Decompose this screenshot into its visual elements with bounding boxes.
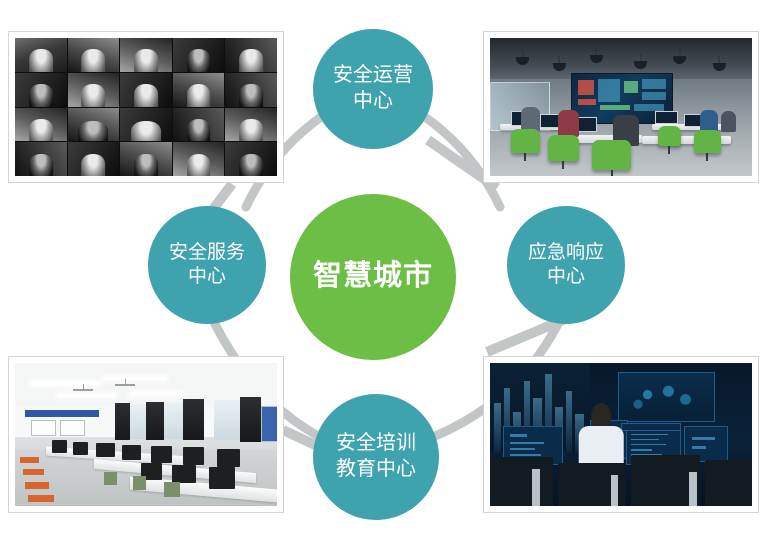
- center-label: 智慧城市: [307, 258, 439, 295]
- node-security-training-education-center[interactable]: 安全培训 教育中心: [313, 394, 439, 520]
- node-security-service-center[interactable]: 安全服务 中心: [148, 206, 266, 324]
- operations-center-scene: [490, 38, 752, 176]
- node-security-operations-center[interactable]: 安全运营 中心: [313, 29, 433, 149]
- photo-bottom-left-image: [15, 363, 277, 506]
- photo-top-right-image: [490, 38, 752, 176]
- node-bottom-line1: 安全培训: [330, 431, 422, 457]
- training-classroom-scene: [15, 363, 277, 506]
- node-right-line1: 应急响应: [522, 241, 610, 265]
- classroom-banner: [25, 410, 98, 417]
- operator-person: [579, 403, 624, 472]
- node-left-line1: 安全服务: [163, 241, 251, 265]
- photo-top-right[interactable]: [483, 31, 759, 183]
- emergency-response-scene: [490, 363, 752, 506]
- node-emergency-response-center[interactable]: 应急响应 中心: [507, 206, 625, 324]
- world-map-display: [618, 372, 714, 423]
- node-bottom-line2: 教育中心: [330, 457, 422, 483]
- photo-top-left[interactable]: [8, 31, 284, 183]
- node-right-line2: 中心: [522, 265, 610, 289]
- node-top-line1: 安全运营: [327, 63, 419, 89]
- photo-bottom-right-image: [490, 363, 752, 506]
- photo-top-left-image: [15, 38, 277, 176]
- photo-bottom-right[interactable]: [483, 356, 759, 513]
- node-left-line2: 中心: [163, 265, 251, 289]
- node-smart-city-center[interactable]: 智慧城市: [290, 194, 456, 360]
- portrait-mosaic: [15, 38, 277, 176]
- photo-bottom-left[interactable]: [8, 356, 284, 513]
- diagram-canvas: 安全运营 中心 应急响应 中心 安全培训 教育中心 安全服务 中心 智慧城市: [0, 0, 767, 533]
- node-top-line2: 中心: [327, 89, 419, 115]
